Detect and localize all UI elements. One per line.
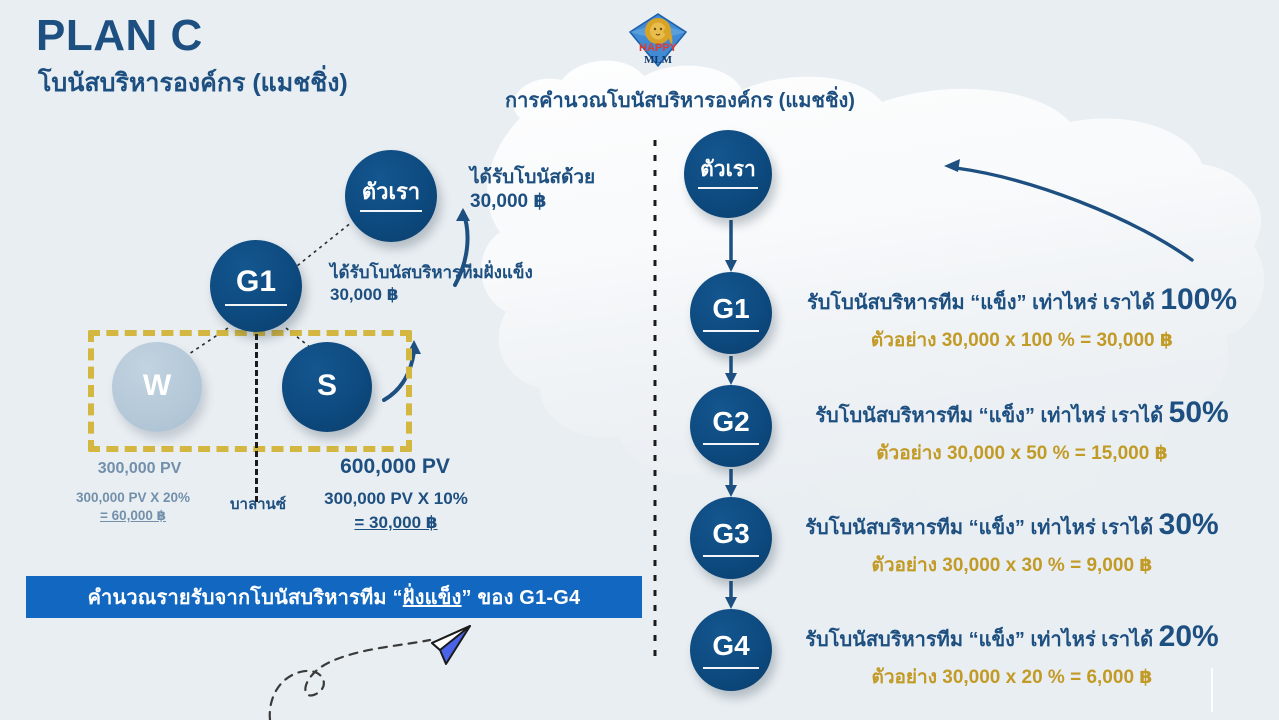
right-panel-heading: การคำนวณโบนัสบริหารองค์กร (แมชชิ่ง) bbox=[470, 84, 890, 116]
page-title: PLAN C bbox=[36, 14, 203, 58]
slide-canvas: PLAN C โบนัสบริหารองค์กร (แมชชิ่ง) การคำ… bbox=[0, 0, 1279, 720]
node-weak-side: W bbox=[112, 342, 202, 432]
bonus-row-example: ตัวอย่าง 30,000 x 50 % = 15,000 ฿ bbox=[772, 438, 1272, 468]
bonus-row-example: ตัวอย่าง 30,000 x 20 % = 6,000 ฿ bbox=[762, 662, 1262, 692]
bonus-row-statement: รับโบนัสบริหารทีม “แข็ง” เท่าไหร่ เราได้… bbox=[772, 396, 1272, 431]
node-underline bbox=[703, 443, 759, 445]
bonus-row-g3: รับโบนัสบริหารทีม “แข็ง” เท่าไหร่ เราได้… bbox=[762, 508, 1262, 580]
node-underline bbox=[703, 667, 759, 669]
annotation-self-bonus: ได้รับโบนัสด้วย 30,000 ฿ bbox=[470, 166, 595, 215]
bonus-row-g4: รับโบนัสบริหารทีม “แข็ง” เท่าไหร่ เราได้… bbox=[762, 620, 1262, 692]
bonus-percent: 30% bbox=[1159, 508, 1219, 541]
strong-side-pv: 600,000 PV bbox=[300, 455, 490, 479]
paper-plane-icon bbox=[432, 626, 470, 664]
bonus-row-statement: รับโบนัสบริหารทีม “แข็ง” เท่าไหร่ เราได้… bbox=[762, 508, 1262, 543]
node-g1-right: G1 bbox=[690, 272, 772, 354]
bonus-percent: 100% bbox=[1160, 283, 1237, 316]
bonus-row-g1: รับโบนัสบริหารทีม “แข็ง” เท่าไหร่ เราได้… bbox=[772, 283, 1272, 355]
bonus-row-example: ตัวอย่าง 30,000 x 100 % = 30,000 ฿ bbox=[772, 325, 1272, 355]
bonus-row-statement: รับโบนัสบริหารทีม “แข็ง” เท่าไหร่ เราได้… bbox=[772, 283, 1272, 318]
node-g4-right: G4 bbox=[690, 609, 772, 691]
bonus-row-example: ตัวอย่าง 30,000 x 30 % = 9,000 ฿ bbox=[762, 550, 1262, 580]
banner-text-underline: ฝั่งแข็ง bbox=[403, 581, 462, 613]
banner-text-before: คำนวณรายรับจากโบนัสบริหารทีม “ bbox=[88, 581, 403, 613]
page-subtitle: โบนัสบริหารองค์กร (แมชชิ่ง) bbox=[38, 70, 348, 98]
node-g1-left: G1 bbox=[210, 240, 302, 332]
banner-text-after: ” ของ G1-G4 bbox=[462, 581, 581, 613]
node-self-left: ตัวเรา bbox=[345, 150, 437, 242]
node-strong-side: S bbox=[282, 342, 372, 432]
bonus-percent: 20% bbox=[1159, 620, 1219, 653]
weak-side-calculation: 300,000 PV X 20% = 60,000 ฿ bbox=[28, 489, 238, 525]
weak-side-pv: 300,000 PV bbox=[42, 460, 237, 478]
balance-divider-line bbox=[255, 334, 258, 502]
strong-side-calculation: 300,000 PV X 10% = 30,000 ฿ bbox=[288, 487, 504, 535]
node-g3-right: G3 bbox=[690, 497, 772, 579]
node-underline bbox=[225, 304, 288, 306]
bonus-row-statement: รับโบนัสบริหารทีม “แข็ง” เท่าไหร่ เราได้… bbox=[762, 620, 1262, 655]
happy-mlm-logo: HAPPY MLM bbox=[620, 6, 696, 72]
logo-text-mlm: MLM bbox=[644, 54, 673, 66]
node-underline bbox=[360, 210, 423, 212]
node-underline bbox=[698, 187, 758, 189]
annotation-strong-team-bonus: ได้รับโบนัสบริหารทีมฝั่งแข็ง 30,000 ฿ bbox=[330, 262, 533, 306]
logo-text-happy: HAPPY bbox=[639, 42, 678, 54]
node-underline bbox=[703, 330, 759, 332]
summary-banner: คำนวณรายรับจากโบนัสบริหารทีม “ฝั่งแข็ง” … bbox=[26, 576, 642, 618]
node-self-right: ตัวเรา bbox=[684, 130, 772, 218]
node-g2-right: G2 bbox=[690, 385, 772, 467]
node-underline bbox=[703, 555, 759, 557]
bonus-row-g2: รับโบนัสบริหารทีม “แข็ง” เท่าไหร่ เราได้… bbox=[772, 396, 1272, 468]
bonus-percent: 50% bbox=[1169, 396, 1229, 429]
